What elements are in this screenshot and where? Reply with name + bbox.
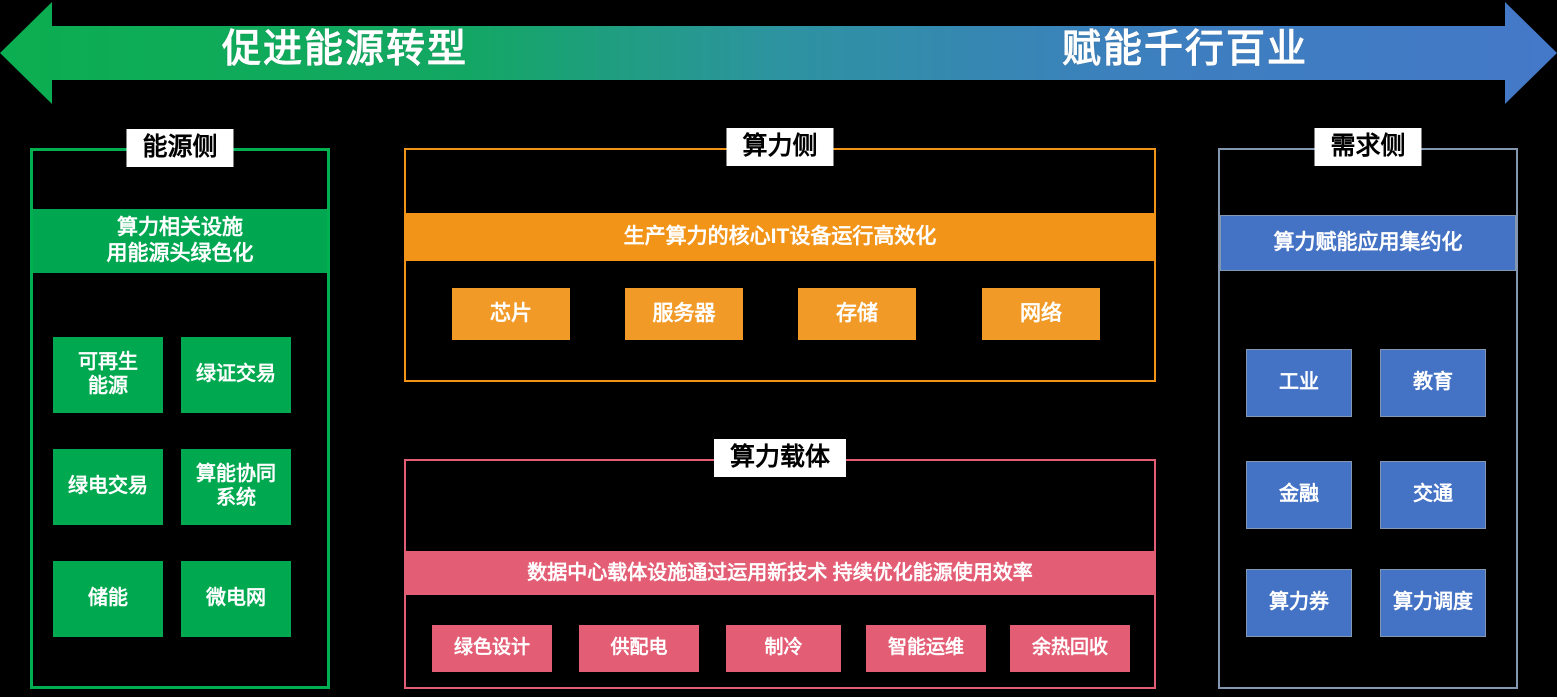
header-label-right: 赋能千行百业 [1062, 18, 1308, 74]
panel-title-demand: 需求侧 [1314, 128, 1421, 166]
chip-microgrid[interactable]: 微电网 [181, 561, 291, 637]
panel-energy-side: 能源侧 算力相关设施 用能源头绿色化 可再生 能源 绿证交易 绿电交易 算能协同… [30, 148, 330, 689]
chip-green-power-trading[interactable]: 绿电交易 [53, 449, 163, 525]
panel-title-compute: 算力侧 [726, 128, 833, 166]
chip-cooling[interactable]: 制冷 [726, 625, 841, 672]
chip-energy-storage[interactable]: 储能 [53, 561, 163, 637]
header-label-left: 促进能源转型 [222, 18, 468, 74]
banner-compute: 生产算力的核心IT设备运行高效化 [406, 213, 1154, 261]
header-double-arrow: 促进能源转型 赋能千行百业 [0, 0, 1557, 106]
chip-finance[interactable]: 金融 [1246, 461, 1352, 529]
chip-compute-scheduling[interactable]: 算力调度 [1380, 569, 1486, 637]
panel-demand-side: 需求侧 算力赋能应用集约化 工业 教育 金融 交通 算力券 算力调度 [1218, 148, 1518, 689]
chip-compute-voucher[interactable]: 算力券 [1246, 569, 1352, 637]
chip-compute-energy-coordination-system[interactable]: 算能协同 系统 [181, 449, 291, 525]
banner-energy: 算力相关设施 用能源头绿色化 [33, 209, 327, 273]
panel-compute-side: 算力侧 生产算力的核心IT设备运行高效化 芯片 服务器 存储 网络 [404, 148, 1156, 382]
chip-renewable-energy[interactable]: 可再生 能源 [53, 337, 163, 413]
chip-green-design[interactable]: 绿色设计 [432, 625, 552, 672]
chip-power-supply-distribution[interactable]: 供配电 [579, 625, 699, 672]
chip-server[interactable]: 服务器 [625, 288, 743, 340]
chip-storage[interactable]: 存储 [798, 288, 916, 340]
chip-industry[interactable]: 工业 [1246, 349, 1352, 417]
banner-carrier: 数据中心载体设施通过运用新技术 持续优化能源使用效率 [406, 551, 1154, 595]
panel-compute-carrier: 算力载体 数据中心载体设施通过运用新技术 持续优化能源使用效率 绿色设计 供配电… [404, 459, 1156, 689]
chip-transportation[interactable]: 交通 [1380, 461, 1486, 529]
chip-network[interactable]: 网络 [982, 288, 1100, 340]
panel-title-energy: 能源侧 [126, 129, 233, 167]
chip-education[interactable]: 教育 [1380, 349, 1486, 417]
chip-waste-heat-recovery[interactable]: 余热回收 [1010, 625, 1130, 672]
chip-chip[interactable]: 芯片 [452, 288, 570, 340]
panel-title-carrier: 算力载体 [714, 439, 846, 477]
banner-demand: 算力赋能应用集约化 [1220, 215, 1516, 271]
chip-intelligent-operations[interactable]: 智能运维 [866, 625, 986, 672]
chip-green-certificate-trading[interactable]: 绿证交易 [181, 337, 291, 413]
